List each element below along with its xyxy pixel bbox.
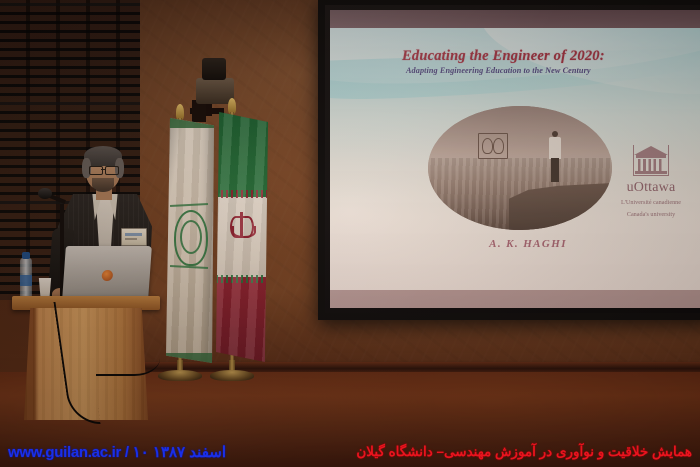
projection-bottom-band — [330, 290, 700, 308]
person-head — [552, 131, 558, 137]
conference-photo: Educating the Engineer of 2020: Adapting… — [0, 0, 700, 467]
glasses-lens-left — [89, 166, 103, 175]
uottawa-wordmark: uOttawa — [612, 180, 690, 196]
bottle-label — [20, 275, 32, 286]
photo-person — [549, 131, 561, 183]
uottawa-tagline-fr: L'Université canadienne — [612, 199, 690, 208]
uottawa-logo: uOttawa L'Université canadienne Canada's… — [612, 146, 690, 220]
banner-website-and-date: www.guilan.ac.ir / ۱۰ اسفند ۱۳۸۷ — [8, 443, 226, 461]
temple-frame — [633, 145, 669, 176]
microphone-neck — [60, 204, 64, 252]
person-body — [549, 137, 561, 159]
emblem-inner — [180, 220, 202, 254]
flag-fold-shading — [216, 112, 268, 362]
badge-line-2 — [125, 238, 137, 240]
photo-sky — [428, 106, 612, 161]
glasses-bridge — [101, 169, 106, 170]
flag-stand-guilan — [158, 360, 202, 380]
projection-top-band — [330, 10, 700, 28]
caption-banner: www.guilan.ac.ir / ۱۰ اسفند ۱۳۸۷ همایش خ… — [0, 437, 700, 467]
emblem-bar-top — [170, 203, 208, 207]
slide-oval-photo — [428, 106, 612, 230]
guilan-emblem-icon — [172, 202, 206, 270]
projection-screen: Educating the Engineer of 2020: Adapting… — [318, 0, 700, 320]
temple-building-icon — [634, 146, 668, 176]
slide-title: Educating the Engineer of 2020: — [402, 48, 700, 65]
flag-cloth-iran — [216, 112, 268, 362]
lectern-top — [12, 296, 160, 310]
screen-surface: Educating the Engineer of 2020: Adapting… — [330, 10, 700, 308]
glasses-lens-right — [105, 166, 119, 175]
person-legs — [551, 158, 559, 182]
flag-cloth-guilan — [164, 118, 214, 363]
presentation-slide: Educating the Engineer of 2020: Adapting… — [330, 28, 700, 290]
banner-event-title: همایش خلاقیت و نوآوری در آموزش مهندسی– د… — [356, 444, 692, 460]
bottle-cap — [22, 252, 30, 259]
name-badge — [121, 228, 147, 246]
microphone-icon — [38, 188, 52, 199]
stand-base — [210, 370, 254, 381]
cable-2 — [96, 332, 160, 376]
speaker-beard — [92, 178, 114, 192]
photo-watermark-icon — [478, 133, 508, 159]
stand-base — [158, 370, 202, 381]
emblem-bar-bottom — [170, 265, 208, 269]
flag-stand-iran — [210, 360, 254, 380]
slide-subtitle: Adapting Engineering Education to the Ne… — [406, 66, 700, 75]
laptop-screen — [62, 246, 152, 300]
slide-author: A. K. HAGHI — [448, 238, 608, 250]
camera-head — [202, 58, 226, 80]
uottawa-tagline-en: Canada's university — [612, 211, 690, 220]
badge-line-1 — [125, 233, 142, 236]
laptop-logo-icon — [101, 270, 113, 281]
